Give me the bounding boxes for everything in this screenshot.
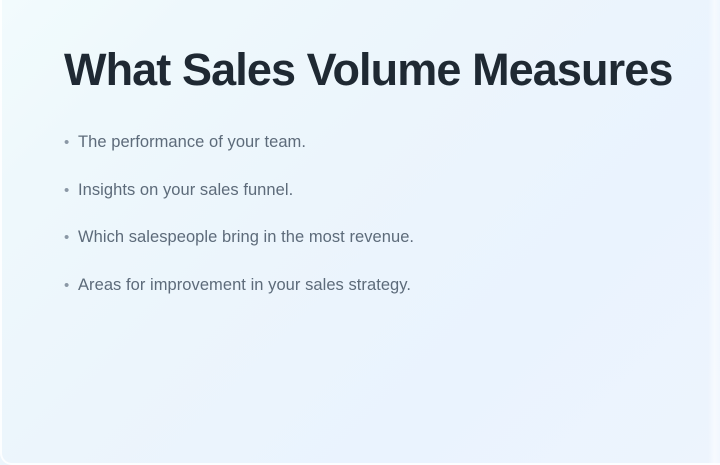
list-item: • The performance of your team. <box>64 131 414 179</box>
bullet-point-icon: • <box>64 274 78 297</box>
bullet-list: • The performance of your team. • Insigh… <box>64 131 414 321</box>
slide-canvas: What Sales Volume Measures • The perform… <box>0 0 720 465</box>
list-item-label: Areas for improvement in your sales stra… <box>78 274 411 296</box>
right-edge-sheen <box>708 0 720 465</box>
list-item: • Insights on your sales funnel. <box>64 179 414 227</box>
bullet-point-icon: • <box>64 179 78 202</box>
bullet-point-icon: • <box>64 226 78 249</box>
list-item-label: Which salespeople bring in the most reve… <box>78 226 414 248</box>
list-item: • Areas for improvement in your sales st… <box>64 274 414 322</box>
list-item-label: Insights on your sales funnel. <box>78 179 293 201</box>
slide-title: What Sales Volume Measures <box>64 46 673 94</box>
list-item: • Which salespeople bring in the most re… <box>64 226 414 274</box>
list-item-label: The performance of your team. <box>78 131 306 153</box>
bullet-point-icon: • <box>64 131 78 154</box>
